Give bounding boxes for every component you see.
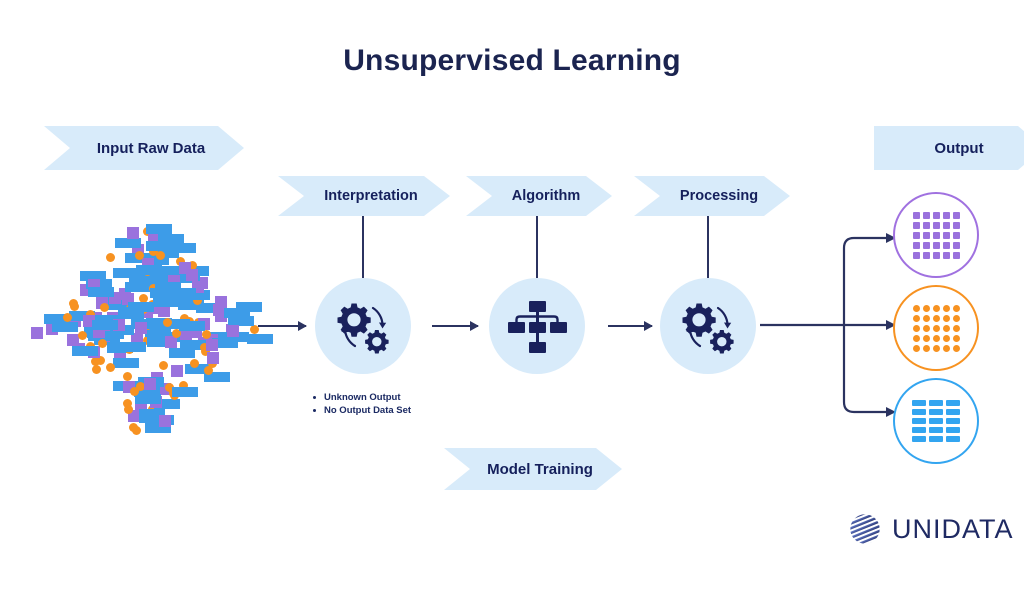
cluster-mark	[129, 423, 138, 432]
banner-input-raw-data[interactable]: Input Raw Data	[44, 126, 244, 170]
grid-cell	[923, 222, 930, 229]
grid-cell	[933, 305, 940, 312]
grid-cell	[953, 345, 960, 352]
cluster-mark	[146, 241, 172, 251]
grid-cell	[946, 427, 960, 433]
stage-icon-algorithm	[489, 278, 585, 374]
cluster-mark	[165, 336, 177, 348]
cluster-mark	[172, 387, 198, 397]
cluster-mark	[31, 327, 43, 339]
grid-cell	[933, 345, 940, 352]
banner-interpretation-label: Interpretation	[324, 188, 417, 204]
unidata-logo[interactable]: UNIDATA	[848, 512, 1014, 546]
blue-bar-grid-icon	[912, 400, 960, 442]
grid-cell	[913, 222, 920, 229]
grid-cell	[929, 400, 943, 406]
grid-cell	[912, 418, 926, 424]
cluster-mark	[155, 282, 181, 292]
cluster-mark	[135, 322, 147, 334]
banner-output[interactable]: Output	[874, 126, 1024, 170]
cluster-mark	[159, 415, 171, 427]
banner-model-training-label: Model Training	[487, 461, 593, 478]
grid-cell	[933, 232, 940, 239]
grid-cell	[929, 418, 943, 424]
grid-cell	[943, 252, 950, 259]
grid-cell	[913, 305, 920, 312]
cluster-mark	[146, 224, 172, 234]
cluster-mark	[125, 282, 151, 292]
grid-cell	[933, 212, 940, 219]
gears-cycle-icon	[677, 297, 739, 355]
arrow-input-to-interpretation	[258, 325, 306, 327]
banner-input-raw-data-label: Input Raw Data	[97, 140, 205, 157]
grid-cell	[943, 325, 950, 332]
grid-cell	[923, 345, 930, 352]
cluster-mark	[215, 296, 227, 308]
arrow-algorithm-to-processing	[608, 325, 652, 327]
grid-cell	[946, 436, 960, 442]
grid-cell	[943, 232, 950, 239]
grid-cell	[913, 315, 920, 322]
hierarchy-sitemap-icon	[506, 297, 568, 355]
arrow-interpretation-to-algorithm	[432, 325, 478, 327]
grid-cell	[923, 335, 930, 342]
cluster-mark	[227, 325, 239, 337]
grid-cell	[946, 400, 960, 406]
grid-cell	[912, 400, 926, 406]
unidata-wordmark: UNIDATA	[892, 514, 1014, 545]
grid-cell	[912, 436, 926, 442]
cluster-mark	[115, 238, 141, 248]
scattered-data-cluster	[20, 215, 270, 435]
striped-globe-icon	[848, 512, 882, 546]
cluster-mark	[247, 334, 273, 344]
cluster-mark	[113, 358, 139, 368]
grid-cell	[912, 427, 926, 433]
grid-cell	[923, 252, 930, 259]
output-cluster-orange	[893, 285, 979, 371]
grid-cell	[933, 315, 940, 322]
grid-cell	[943, 345, 950, 352]
grid-cell	[913, 242, 920, 249]
cluster-mark	[179, 321, 205, 331]
banner-processing-label: Processing	[680, 188, 758, 204]
grid-cell	[943, 242, 950, 249]
grid-cell	[923, 242, 930, 249]
grid-cell	[933, 325, 940, 332]
grid-cell	[933, 335, 940, 342]
cluster-mark	[118, 309, 144, 319]
banner-interpretation[interactable]: Interpretation	[278, 176, 450, 216]
cluster-mark	[207, 352, 219, 364]
cluster-mark	[179, 262, 191, 274]
grid-cell	[953, 242, 960, 249]
cluster-mark	[106, 363, 115, 372]
cluster-mark	[98, 339, 107, 348]
banner-model-training[interactable]: Model Training	[444, 448, 622, 490]
grid-cell	[923, 232, 930, 239]
banner-output-label: Output	[934, 140, 983, 157]
cluster-mark	[204, 366, 213, 375]
grid-cell	[913, 335, 920, 342]
grid-cell	[923, 212, 930, 219]
grid-cell	[933, 222, 940, 229]
grid-cell	[946, 418, 960, 424]
grid-cell	[933, 242, 940, 249]
cluster-mark	[120, 342, 146, 352]
orange-dot-grid-icon	[913, 305, 960, 352]
grid-cell	[929, 427, 943, 433]
grid-cell	[929, 436, 943, 442]
cluster-mark	[88, 287, 114, 297]
grid-cell	[953, 212, 960, 219]
grid-cell	[953, 252, 960, 259]
interpretation-notes: Unknown Output No Output Data Set	[312, 391, 411, 417]
grid-cell	[912, 409, 926, 415]
cluster-mark	[159, 361, 168, 370]
grid-cell	[913, 212, 920, 219]
grid-cell	[946, 409, 960, 415]
grid-cell	[913, 325, 920, 332]
grid-cell	[923, 315, 930, 322]
grid-cell	[953, 335, 960, 342]
cluster-mark	[92, 365, 101, 374]
connector-stem-algorithm	[536, 216, 538, 278]
page-title: Unsupervised Learning	[0, 44, 1024, 78]
grid-cell	[943, 305, 950, 312]
cluster-mark	[163, 318, 172, 327]
cluster-mark	[123, 399, 132, 408]
cluster-mark	[78, 331, 87, 340]
grid-cell	[953, 232, 960, 239]
cluster-mark	[206, 339, 218, 351]
cluster-mark	[158, 305, 170, 317]
grid-cell	[953, 305, 960, 312]
grid-cell	[923, 325, 930, 332]
branch-connector	[760, 180, 910, 460]
output-cluster-purple	[893, 192, 979, 278]
stage-icon-interpretation	[315, 278, 411, 374]
grid-cell	[943, 315, 950, 322]
grid-cell	[913, 232, 920, 239]
cluster-mark	[224, 308, 250, 318]
cluster-mark	[72, 346, 98, 356]
cluster-mark	[169, 348, 195, 358]
cluster-mark	[144, 378, 156, 390]
cluster-mark	[106, 253, 115, 262]
list-item: Unknown Output	[312, 391, 411, 404]
connector-stem-processing	[707, 216, 709, 278]
list-item: No Output Data Set	[312, 404, 411, 417]
cluster-mark	[92, 320, 118, 330]
cluster-mark	[136, 265, 162, 275]
cluster-mark	[127, 227, 139, 239]
grid-cell	[929, 409, 943, 415]
grid-cell	[953, 222, 960, 229]
grid-cell	[953, 315, 960, 322]
banner-algorithm[interactable]: Algorithm	[466, 176, 612, 216]
grid-cell	[953, 325, 960, 332]
stage-icon-processing	[660, 278, 756, 374]
grid-cell	[913, 252, 920, 259]
cluster-mark	[70, 302, 79, 311]
cluster-mark	[190, 359, 199, 368]
grid-cell	[943, 335, 950, 342]
cluster-mark	[171, 365, 183, 377]
grid-cell	[943, 212, 950, 219]
grid-cell	[923, 305, 930, 312]
gears-cycle-icon	[332, 297, 394, 355]
purple-square-grid-icon	[913, 212, 960, 259]
banner-algorithm-label: Algorithm	[512, 188, 580, 204]
connector-stem-interpretation	[362, 216, 364, 278]
grid-cell	[943, 222, 950, 229]
cluster-mark	[153, 297, 179, 307]
diagram-canvas: Unsupervised Learning Input Raw Data Int…	[0, 0, 1024, 590]
output-cluster-blue	[893, 378, 979, 464]
grid-cell	[913, 345, 920, 352]
grid-cell	[933, 252, 940, 259]
